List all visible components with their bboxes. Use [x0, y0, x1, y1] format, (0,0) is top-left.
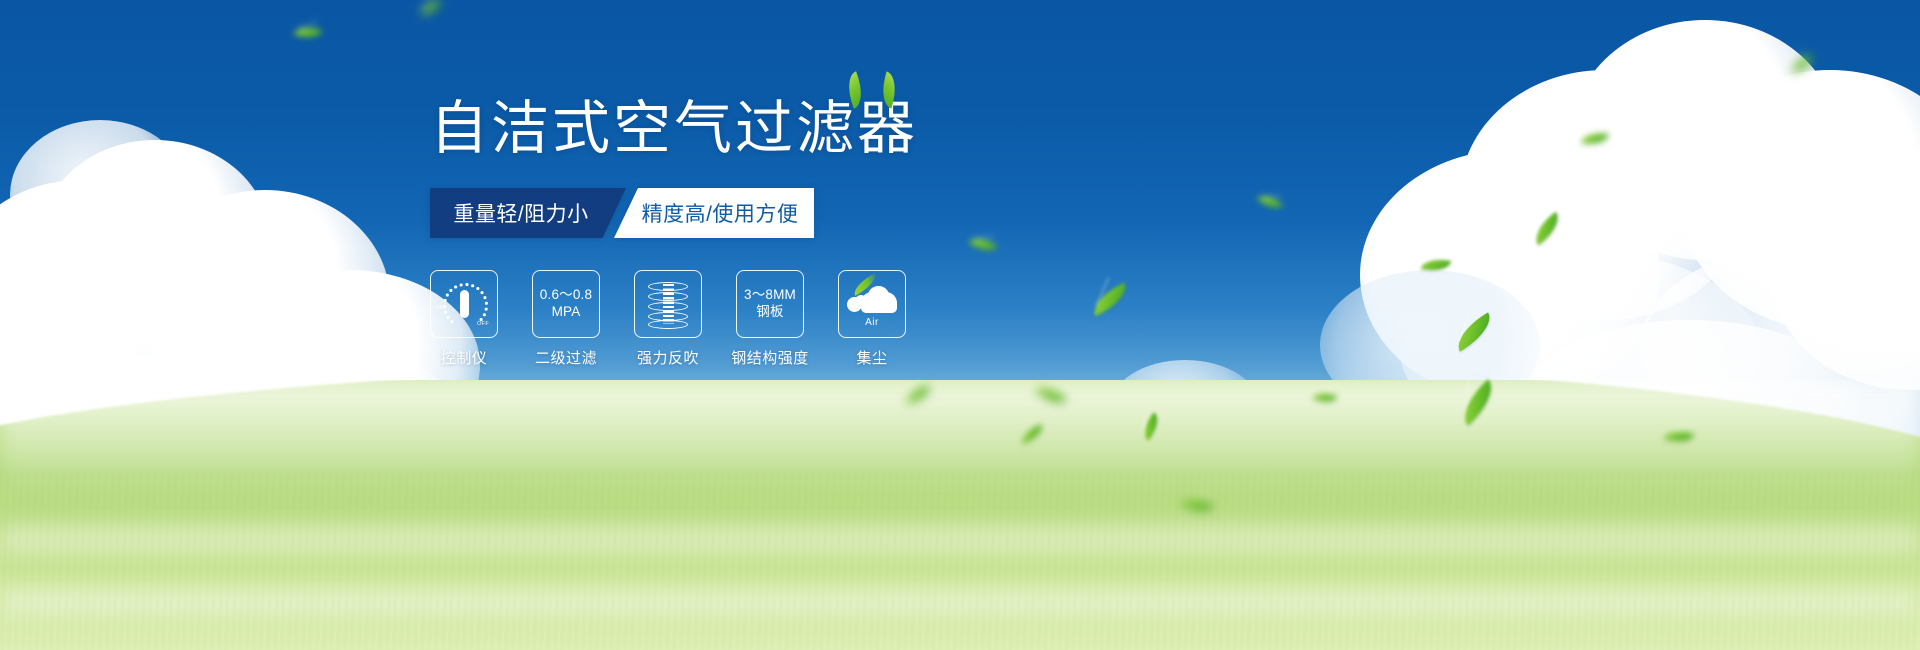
cloud-top: [868, 286, 889, 305]
cloud-small-top: [855, 295, 867, 307]
subtitle-pill-left: 重量轻/阻力小: [430, 188, 626, 238]
pressure-line-1: 0.6～0.8: [540, 287, 592, 304]
pressure-value-icon: 0.6～0.8 MPA: [532, 270, 600, 338]
floating-leaf: [1581, 130, 1609, 146]
coil-ring: [648, 292, 688, 301]
banner-content: 自洁式空气过滤器 重量轻/阻力小 精度高/使用方便: [430, 100, 1130, 368]
subtitle-pill-right: 精度高/使用方便: [614, 188, 814, 238]
control-dial-icon: NO OFF: [430, 270, 498, 338]
sprout-leaf-icon: [845, 67, 899, 107]
feature-caption: 二级过滤: [532, 347, 600, 368]
pressure-text: 0.6～0.8 MPA: [540, 287, 592, 321]
floating-leaf: [1450, 312, 1498, 351]
feature-item-control: NO OFF 控制仪: [430, 270, 498, 368]
steel-plate-icon: 3～8MM 钢板: [736, 270, 804, 338]
dial-on-label: NO: [437, 305, 446, 311]
feature-item-dust: Air 集尘: [838, 270, 906, 368]
feature-item-steel: 3～8MM 钢板 钢结构强度: [736, 270, 804, 368]
floating-leaf: [1528, 212, 1565, 246]
hero-banner: 自洁式空气过滤器 重量轻/阻力小 精度高/使用方便: [0, 0, 1920, 650]
feature-caption: 集尘: [838, 347, 906, 368]
page-title: 自洁式空气过滤器: [430, 100, 1130, 158]
pressure-line-2: MPA: [540, 304, 592, 321]
air-label: Air: [845, 317, 899, 328]
coil-ring: [648, 302, 688, 311]
floating-leaf: [294, 22, 323, 42]
feature-caption: 钢结构强度: [720, 347, 820, 368]
floating-leaf: [419, 0, 443, 15]
feature-caption: 控制仪: [430, 347, 498, 368]
coil-graphic: [645, 280, 691, 328]
coil-ring: [648, 282, 688, 291]
dial-graphic: NO OFF: [438, 278, 490, 330]
title-block: 自洁式空气过滤器: [430, 100, 1130, 158]
subtitle-pills: 重量轻/阻力小 精度高/使用方便: [430, 188, 818, 238]
feature-caption: 强力反吹: [634, 347, 702, 368]
dial-off-label: OFF: [477, 321, 489, 327]
meadow-foreground: [0, 380, 1920, 650]
feature-item-pressure: 0.6～0.8 MPA 二级过滤: [532, 270, 600, 368]
floating-leaf: [1421, 255, 1451, 275]
sprout-leaf-left: [841, 71, 869, 109]
grass-texture: [0, 470, 1920, 650]
coil-ring: [648, 320, 688, 329]
air-cloud-graphic: Air: [845, 281, 899, 327]
steel-line-1: 3～8MM: [744, 287, 796, 304]
dial-knob: [460, 290, 469, 318]
steel-text: 3～8MM 钢板: [744, 287, 796, 321]
air-cloud-icon: Air: [838, 270, 906, 338]
floating-leaf: [1257, 190, 1283, 215]
cloud-right-large: [1240, 20, 1920, 440]
floating-leaf: [1789, 55, 1816, 74]
sprout-leaf-right: [876, 71, 902, 108]
feature-list: NO OFF 控制仪 0.6～0.8 MPA 二级过滤: [430, 270, 1130, 368]
steel-line-2: 钢板: [744, 304, 796, 321]
feature-item-backblow: 强力反吹: [634, 270, 702, 368]
coil-backblow-icon: [634, 270, 702, 338]
